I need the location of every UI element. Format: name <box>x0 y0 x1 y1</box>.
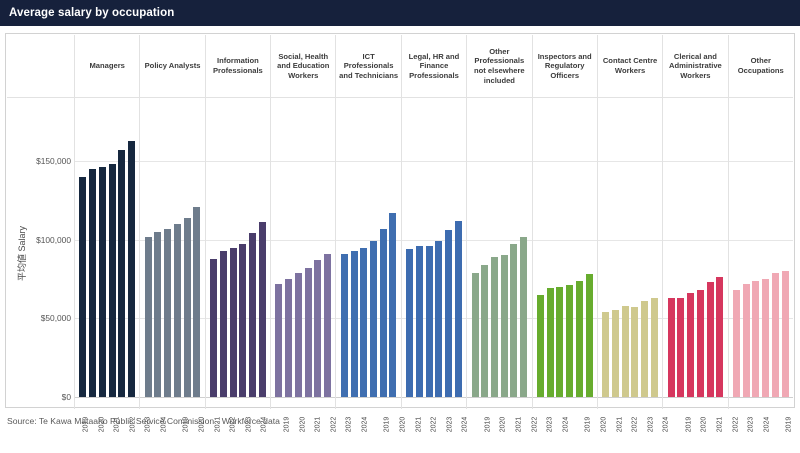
facet-panel-contact-centre-workers <box>597 98 662 409</box>
bar-column <box>620 98 630 397</box>
bar-column <box>470 98 480 397</box>
facet-header-label: ICT Professionals and Technicians <box>336 52 400 81</box>
bar-column <box>257 98 267 397</box>
bar-social-health-and-education-workers-2020[interactable] <box>285 279 292 397</box>
bar-clerical-and-administrative-workers-2020[interactable] <box>677 298 684 397</box>
bar-managers-2022[interactable] <box>109 164 116 397</box>
bar-column <box>666 98 676 397</box>
y-axis-title-text: 平均値 Salary <box>15 226 28 281</box>
bar-contact-centre-workers-2021[interactable] <box>622 306 629 397</box>
y-axis-tick-label: $0 <box>62 392 71 402</box>
facet-panel-ict-professionals-and-technicians <box>335 98 400 409</box>
bar-column <box>771 98 781 397</box>
bar-policy-analysts-2023[interactable] <box>184 218 191 397</box>
bar-inspectors-and-regulatory-officers-2020[interactable] <box>547 288 554 397</box>
bar-column <box>303 98 313 397</box>
bar-inspectors-and-regulatory-officers-2021[interactable] <box>556 287 563 397</box>
facet-panel-information-professionals <box>205 98 270 409</box>
facet-panel-legal-hr-and-finance-professionals <box>401 98 466 409</box>
facet-header-managers: Managers <box>74 35 139 97</box>
bar-column <box>434 98 444 397</box>
bar-column <box>78 98 88 397</box>
facet-header-policy-analysts: Policy Analysts <box>139 35 204 97</box>
bar-group <box>467 98 531 397</box>
bar-other-professionals-not-elsewhere-included-2021[interactable] <box>491 257 498 397</box>
bar-group <box>533 98 597 397</box>
axis-baseline <box>336 397 400 398</box>
bar-column <box>143 98 153 397</box>
bar-column <box>228 98 238 397</box>
bar-clerical-and-administrative-workers-2019[interactable] <box>668 298 675 397</box>
bar-other-professionals-not-elsewhere-included-2022[interactable] <box>501 255 508 397</box>
bar-column <box>509 98 519 397</box>
bar-column <box>323 98 333 397</box>
facet-header-contact-centre-workers: Contact Centre Workers <box>597 35 662 97</box>
axis-baseline <box>402 397 466 398</box>
bar-column <box>209 98 219 397</box>
bar-column <box>584 98 594 397</box>
facet-header-other-professionals-not-elsewhere-included: Other Professionals not elsewhere includ… <box>466 35 531 97</box>
bar-clerical-and-administrative-workers-2021[interactable] <box>687 293 694 397</box>
facet-header-label: Legal, HR and Finance Professionals <box>402 52 466 81</box>
facet-panel-inspectors-and-regulatory-officers <box>532 98 597 409</box>
axis-baseline <box>729 397 793 398</box>
bar-managers-2021[interactable] <box>99 167 106 397</box>
bar-legal-hr-and-finance-professionals-2022[interactable] <box>435 241 442 397</box>
bar-social-health-and-education-workers-2019[interactable] <box>275 284 282 397</box>
bar-clerical-and-administrative-workers-2024[interactable] <box>716 277 723 397</box>
bar-clerical-and-administrative-workers-2022[interactable] <box>697 290 704 397</box>
axis-baseline <box>206 397 270 398</box>
bar-column <box>238 98 248 397</box>
bar-column <box>359 98 369 397</box>
bar-other-professionals-not-elsewhere-included-2020[interactable] <box>481 265 488 397</box>
bar-managers-2020[interactable] <box>89 169 96 397</box>
bar-column <box>339 98 349 397</box>
bar-information-professionals-2020[interactable] <box>220 251 227 397</box>
bar-other-professionals-not-elsewhere-included-2019[interactable] <box>472 273 479 397</box>
bar-column <box>453 98 463 397</box>
bar-group <box>75 98 139 397</box>
bar-group <box>598 98 662 397</box>
bar-column <box>378 98 388 397</box>
bar-column <box>519 98 529 397</box>
bar-ict-professionals-and-technicians-2020[interactable] <box>351 251 358 397</box>
bar-column <box>611 98 621 397</box>
facet-panel-policy-analysts <box>139 98 204 409</box>
facet-header-clerical-and-administrative-workers: Clerical and Administrative Workers <box>662 35 727 97</box>
y-axis-tick-label: $50,000 <box>41 313 71 323</box>
bar-legal-hr-and-finance-professionals-2021[interactable] <box>426 246 433 397</box>
bar-column <box>761 98 771 397</box>
title-bar: Average salary by occupation <box>0 0 800 26</box>
axis-baseline <box>533 397 597 398</box>
bar-column <box>107 98 117 397</box>
bar-policy-analysts-2019[interactable] <box>145 237 152 397</box>
bar-column <box>490 98 500 397</box>
facet-header-label: Other Professionals not elsewhere includ… <box>467 47 531 85</box>
facet-header-legal-hr-and-finance-professionals: Legal, HR and Finance Professionals <box>401 35 466 97</box>
facet-header-other-occupations: Other Occupations <box>728 35 793 97</box>
bar-other-occupations-2019[interactable] <box>733 290 740 397</box>
bar-column <box>480 98 490 397</box>
bar-inspectors-and-regulatory-officers-2024[interactable] <box>586 274 593 397</box>
bar-column <box>630 98 640 397</box>
bar-group <box>140 98 204 397</box>
bar-contact-centre-workers-2024[interactable] <box>651 298 658 397</box>
facet-header-information-professionals: Information Professionals <box>205 35 270 97</box>
bar-policy-analysts-2021[interactable] <box>164 229 171 397</box>
facet-header-label: Contact Centre Workers <box>598 56 662 75</box>
bar-column <box>780 98 790 397</box>
bar-social-health-and-education-workers-2021[interactable] <box>295 273 302 397</box>
bar-column <box>274 98 284 397</box>
facet-header-ict-professionals-and-technicians: ICT Professionals and Technicians <box>335 35 400 97</box>
bar-other-occupations-2022[interactable] <box>762 279 769 397</box>
facet-panel-clerical-and-administrative-workers <box>662 98 727 409</box>
bar-column <box>117 98 127 397</box>
bar-inspectors-and-regulatory-officers-2019[interactable] <box>537 295 544 397</box>
bar-column <box>695 98 705 397</box>
bar-contact-centre-workers-2019[interactable] <box>602 312 609 397</box>
bar-group <box>663 98 727 397</box>
bar-column <box>415 98 425 397</box>
bar-column <box>565 98 575 397</box>
bar-column <box>153 98 163 397</box>
bar-inspectors-and-regulatory-officers-2022[interactable] <box>566 285 573 397</box>
facet-panel-other-occupations <box>728 98 793 409</box>
bar-legal-hr-and-finance-professionals-2024[interactable] <box>455 221 462 397</box>
bar-other-occupations-2021[interactable] <box>752 281 759 397</box>
y-axis-tick-label: $100,000 <box>36 235 71 245</box>
bar-social-health-and-education-workers-2022[interactable] <box>305 268 312 397</box>
bar-column <box>388 98 398 397</box>
bar-column <box>444 98 454 397</box>
facet-header-label: Other Occupations <box>729 56 793 75</box>
bar-legal-hr-and-finance-professionals-2020[interactable] <box>416 246 423 397</box>
axis-baseline <box>271 397 335 398</box>
bar-column <box>284 98 294 397</box>
bar-other-professionals-not-elsewhere-included-2024[interactable] <box>520 237 527 397</box>
bar-other-occupations-2020[interactable] <box>743 284 750 397</box>
bar-column <box>163 98 173 397</box>
bar-column <box>313 98 323 397</box>
bar-social-health-and-education-workers-2023[interactable] <box>314 260 321 397</box>
bar-group <box>402 98 466 397</box>
bar-column <box>741 98 751 397</box>
bar-information-professionals-2021[interactable] <box>230 248 237 397</box>
bar-column <box>601 98 611 397</box>
bar-managers-2019[interactable] <box>79 177 86 397</box>
bar-information-professionals-2022[interactable] <box>239 244 246 397</box>
bar-column <box>369 98 379 397</box>
bar-information-professionals-2019[interactable] <box>210 259 217 397</box>
y-axis-title: 平均値 Salary <box>13 98 29 409</box>
y-axis-tick-label: $150,000 <box>36 156 71 166</box>
bar-group <box>336 98 400 397</box>
bar-other-occupations-2024[interactable] <box>782 271 789 397</box>
page-title: Average salary by occupation <box>0 7 174 19</box>
axis-baseline <box>140 397 204 398</box>
facet-panel-managers <box>74 98 139 409</box>
bar-column <box>676 98 686 397</box>
plot-area: 平均値 Salary $150,000$100,000$50,000$0 201… <box>7 98 793 406</box>
bar-ict-professionals-and-technicians-2022[interactable] <box>370 241 377 397</box>
y-axis-ticks: $150,000$100,000$50,000$0 <box>29 98 74 409</box>
bar-column <box>574 98 584 397</box>
bar-group <box>271 98 335 397</box>
chart-footer: Source: Te Kawa Mataaho Public Service C… <box>5 412 795 430</box>
bar-column <box>555 98 565 397</box>
source-note: Source: Te Kawa Mataaho Public Service C… <box>5 416 280 426</box>
bar-information-professionals-2024[interactable] <box>259 222 266 397</box>
bar-legal-hr-and-finance-professionals-2023[interactable] <box>445 230 452 397</box>
bar-other-professionals-not-elsewhere-included-2023[interactable] <box>510 244 517 397</box>
bar-ict-professionals-and-technicians-2019[interactable] <box>341 254 348 397</box>
bar-column <box>640 98 650 397</box>
bar-other-occupations-2023[interactable] <box>772 273 779 397</box>
facet-header-label: Clerical and Administrative Workers <box>663 52 727 81</box>
bar-column <box>499 98 509 397</box>
bar-column <box>686 98 696 397</box>
bar-column <box>349 98 359 397</box>
bar-policy-analysts-2024[interactable] <box>193 207 200 397</box>
bar-contact-centre-workers-2023[interactable] <box>641 301 648 397</box>
bar-column <box>732 98 742 397</box>
bar-legal-hr-and-finance-professionals-2019[interactable] <box>406 249 413 397</box>
bar-group <box>206 98 270 397</box>
axis-baseline <box>467 397 531 398</box>
bar-ict-professionals-and-technicians-2023[interactable] <box>380 229 387 397</box>
bar-information-professionals-2023[interactable] <box>249 233 256 397</box>
facet-header-social-health-and-education-workers: Social, Health and Education Workers <box>270 35 335 97</box>
bar-policy-analysts-2020[interactable] <box>154 232 161 397</box>
bar-group <box>729 98 793 397</box>
facet-panel-other-professionals-not-elsewhere-included <box>466 98 531 409</box>
bar-column <box>715 98 725 397</box>
facet-header-row: ManagersPolicy AnalystsInformation Profe… <box>74 35 793 97</box>
bar-column <box>192 98 202 397</box>
bar-contact-centre-workers-2022[interactable] <box>631 307 638 397</box>
bar-column <box>182 98 192 397</box>
bar-managers-2023[interactable] <box>118 150 125 397</box>
bar-column <box>424 98 434 397</box>
bar-clerical-and-administrative-workers-2023[interactable] <box>707 282 714 397</box>
bar-inspectors-and-regulatory-officers-2023[interactable] <box>576 281 583 397</box>
bar-social-health-and-education-workers-2024[interactable] <box>324 254 331 397</box>
axis-baseline <box>75 397 139 398</box>
bar-policy-analysts-2022[interactable] <box>174 224 181 397</box>
bar-column <box>545 98 555 397</box>
bar-column <box>97 98 107 397</box>
facet-panel-social-health-and-education-workers <box>270 98 335 409</box>
bar-column <box>650 98 660 397</box>
bar-column <box>127 98 137 397</box>
bar-managers-2024[interactable] <box>128 141 135 397</box>
facet-header-label: Information Professionals <box>206 56 270 75</box>
facet-header-label: Social, Health and Education Workers <box>271 52 335 81</box>
axis-baseline <box>663 397 727 398</box>
facet-panels <box>74 98 793 409</box>
facet-header-label: Managers <box>87 61 126 71</box>
bar-column <box>88 98 98 397</box>
bar-column <box>536 98 546 397</box>
chart-card: ManagersPolicy AnalystsInformation Profe… <box>5 33 795 408</box>
bar-ict-professionals-and-technicians-2024[interactable] <box>389 213 396 397</box>
bar-column <box>248 98 258 397</box>
bar-column <box>294 98 304 397</box>
facet-header-inspectors-and-regulatory-officers: Inspectors and Regulatory Officers <box>532 35 597 97</box>
bar-column <box>405 98 415 397</box>
bar-contact-centre-workers-2020[interactable] <box>612 310 619 397</box>
facet-header-label: Policy Analysts <box>143 61 203 71</box>
bar-ict-professionals-and-technicians-2021[interactable] <box>360 248 367 397</box>
bar-column <box>751 98 761 397</box>
bar-column <box>173 98 183 397</box>
bar-column <box>705 98 715 397</box>
facet-header-label: Inspectors and Regulatory Officers <box>533 52 597 81</box>
bar-column <box>218 98 228 397</box>
axis-baseline <box>598 397 662 398</box>
chart-page: Average salary by occupation ManagersPol… <box>0 0 800 434</box>
